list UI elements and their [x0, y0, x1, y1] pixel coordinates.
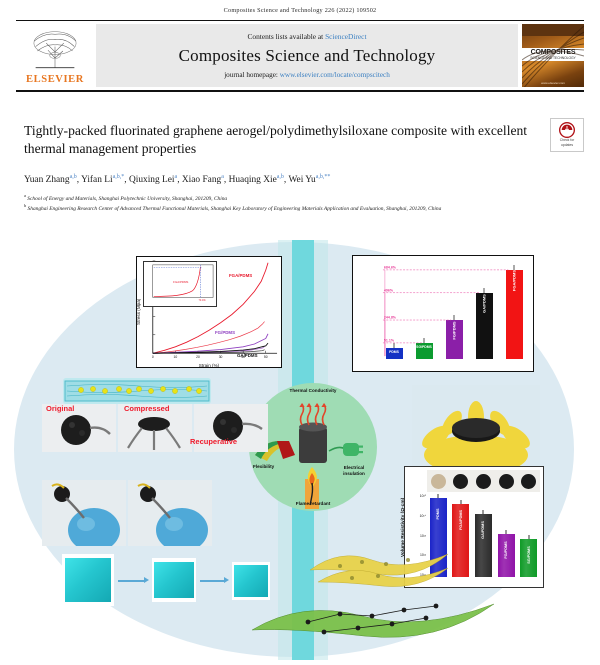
tc-error-bar: [454, 315, 455, 320]
vr-bar-label: GA/PDMS: [481, 521, 485, 539]
author-name: Xiao Fang: [182, 175, 221, 185]
vr-bar-label: SG/PDMS: [527, 546, 531, 564]
svg-text:30: 30: [219, 355, 223, 359]
svg-text:50: 50: [264, 355, 268, 359]
article-first-page: Composites Science and Technology 226 (2…: [0, 0, 600, 665]
author-affiliation-marker: a: [221, 174, 224, 180]
vr-sample-disc: [521, 474, 536, 489]
cube-arrow-2: [200, 580, 224, 582]
inset-plot-area: FGA/PDMS 73.4%: [144, 262, 216, 306]
elsevier-wordmark: ELSEVIER: [26, 74, 84, 85]
cube-arrow-1-head: [144, 577, 149, 583]
title-block: Tightly-packed fluorinated graphene aero…: [24, 122, 545, 213]
vr-sample-disc: [453, 474, 468, 489]
tc-bar-label: FG/PDMS: [452, 321, 457, 339]
journal-title: Composites Science and Technology: [179, 46, 436, 66]
author-name: Qiuxing Lei: [129, 175, 175, 185]
vr-error-bar: [460, 500, 461, 504]
vr-error-bar: [528, 535, 529, 539]
thermal-conductivity-chart: PDMSSG/PDMSFG/PDMSGA/PDMSFGA/PDMS 51.1%2…: [352, 255, 534, 372]
elsevier-logo: ELSEVIER: [16, 21, 94, 90]
affiliation-text: Shanghai Engineering Research Center of …: [26, 206, 441, 212]
vr-sample-disc: [476, 474, 491, 489]
label-fga-pdms: FGA/PDMS: [229, 273, 252, 278]
crossmark-icon: [559, 122, 575, 138]
running-head: Composites Science and Technology 226 (2…: [0, 0, 600, 14]
tc-bar: SG/PDMS: [416, 343, 433, 359]
author-list: Yuan Zhanga,b, Yifan Lia,b,*, Qiuxing Le…: [24, 174, 545, 185]
tube-graphics: [63, 378, 211, 404]
label-recuperative: Recuperative: [190, 437, 237, 446]
affiliation: b Shanghai Engineering Research Center o…: [24, 203, 545, 213]
tc-bar-label: SG/PDMS: [416, 345, 432, 349]
vr-tick-label: 10¹⁴: [409, 514, 426, 518]
tc-bar-label: FGA/PDMS: [512, 270, 517, 291]
tc-error-bar: [514, 265, 515, 270]
tc-bar: PDMS: [386, 348, 403, 359]
sciencedirect-link[interactable]: ScienceDirect: [325, 32, 366, 41]
vr-bar: GA/PDMS: [475, 514, 492, 577]
stress-strain-inset: FGA/PDMS 73.4%: [143, 261, 217, 307]
author-affiliation-marker: a,b: [70, 174, 77, 180]
vr-bar-label: PDMS: [436, 509, 440, 520]
author-affiliation-marker: a: [175, 174, 178, 180]
vr-sample-photos: [427, 470, 540, 492]
cover-stripes-decor: [522, 24, 584, 87]
tc-bar: GA/PDMS: [476, 293, 493, 359]
label-flexibility: Flexibility: [253, 464, 274, 470]
cube-aligned-body: [65, 558, 112, 602]
vr-bar: SG/PDMS: [520, 539, 537, 577]
photo-balloon-left: [42, 480, 126, 546]
affiliation: a School of Energy and Materials, Shangh…: [24, 193, 545, 203]
tc-error-bar: [484, 288, 485, 293]
label-electrical-insulation: Electrical insulation: [335, 465, 373, 476]
vr-bar: FG/PDMS: [498, 534, 515, 577]
flower-graphics: [412, 385, 540, 477]
aerogel-tube-schematic: [63, 378, 211, 404]
properties-circle: Thermal Conductivity Flexibility Electri…: [249, 383, 377, 511]
homepage-prefix: journal homepage:: [224, 71, 280, 79]
tc-error-bar: [394, 343, 395, 348]
tc-bar: FGA/PDMS: [506, 270, 523, 359]
tc-plot-area: PDMSSG/PDMSFG/PDMSGA/PDMSFGA/PDMS 51.1%2…: [379, 260, 529, 359]
svg-text:73.4%: 73.4%: [198, 299, 206, 302]
photo-flower-sample: [412, 385, 540, 477]
homepage-url[interactable]: www.elsevier.com/locate/compscitech: [280, 71, 390, 79]
cube-compressed: [152, 558, 196, 602]
graphene-sheet-green: [248, 588, 498, 660]
crossmark-label-2: updates: [561, 144, 573, 148]
balloon-right-graphics: [128, 480, 212, 546]
article-title: Tightly-packed fluorinated graphene aero…: [24, 122, 545, 158]
elsevier-tree-icon: [28, 29, 82, 73]
author-affiliation-marker: a,b,**: [316, 174, 331, 180]
label-original: Original: [46, 404, 74, 413]
stress-strain-xlabel: Strain (%): [137, 363, 281, 368]
affiliation-text: School of Energy and Materials, Shanghai…: [26, 196, 227, 202]
homepage-line: journal homepage: www.elsevier.com/locat…: [224, 71, 390, 79]
label-thermal-conductivity: Thermal Conductivity: [290, 388, 337, 394]
label-ga-pdms: GA/PDMS: [237, 353, 258, 358]
journal-cover-thumbnail: COMPOSITES SCIENCE AND TECHNOLOGY www.el…: [522, 24, 584, 87]
svg-text:FGA/PDMS: FGA/PDMS: [173, 280, 188, 284]
contents-prefix: Contents lists available at: [247, 32, 325, 41]
author-name: Yuan Zhang: [24, 175, 70, 185]
balloon-left-graphics: [42, 480, 126, 546]
tc-bar-group: PDMSSG/PDMSFG/PDMSGA/PDMSFGA/PDMS: [379, 260, 529, 359]
photo-balloon-right: [128, 480, 212, 546]
cube-arrow-2-head: [224, 577, 229, 583]
masthead-center: Contents lists available at ScienceDirec…: [96, 24, 518, 87]
tc-error-bar: [424, 338, 425, 343]
vr-tick-label: 10¹⁵: [409, 494, 426, 498]
circle-graphics: [249, 383, 377, 511]
affiliation-list: a School of Energy and Materials, Shangh…: [24, 193, 545, 213]
cube-arrow-1: [118, 580, 144, 582]
author-name: Wei Yu: [288, 175, 315, 185]
tc-bar: FG/PDMS: [446, 320, 463, 359]
svg-text:0: 0: [152, 355, 154, 359]
label-flame-retardant: Flame retardant: [296, 501, 330, 507]
cube-compressed-body: [154, 562, 194, 599]
journal-masthead: ELSEVIER Contents lists available at Sci…: [16, 20, 584, 92]
vr-sample-disc: [499, 474, 514, 489]
author-affiliation-marker: a,b: [277, 174, 284, 180]
vr-error-bar: [483, 510, 484, 514]
label-fg-pdms: FG/PDMS: [215, 330, 235, 335]
stress-strain-chart: Stress (Mpa) 01020304050 FGA/PDMS 73.4% …: [136, 256, 282, 368]
tc-bar-label: GA/PDMS: [482, 294, 487, 313]
vr-error-bar: [438, 494, 439, 498]
tc-bar-label: PDMS: [389, 350, 399, 354]
contents-line: Contents lists available at ScienceDirec…: [247, 32, 366, 41]
svg-text:10: 10: [174, 355, 178, 359]
vr-bar-label: FG/PDMS: [504, 541, 508, 558]
label-compressed: Compressed: [124, 404, 169, 413]
cover-footer: www.elsevier.com: [522, 81, 584, 85]
author-name: Huaqing Xie: [229, 175, 277, 185]
vr-error-bar: [506, 530, 507, 534]
author-name: Yifan Li: [81, 175, 113, 185]
cube-aligned: [62, 554, 114, 606]
crossmark-badge[interactable]: Check for updates: [550, 118, 584, 152]
vr-sample-disc: [431, 474, 446, 489]
svg-text:20: 20: [196, 355, 200, 359]
author-affiliation-marker: a,b,*: [113, 174, 125, 180]
